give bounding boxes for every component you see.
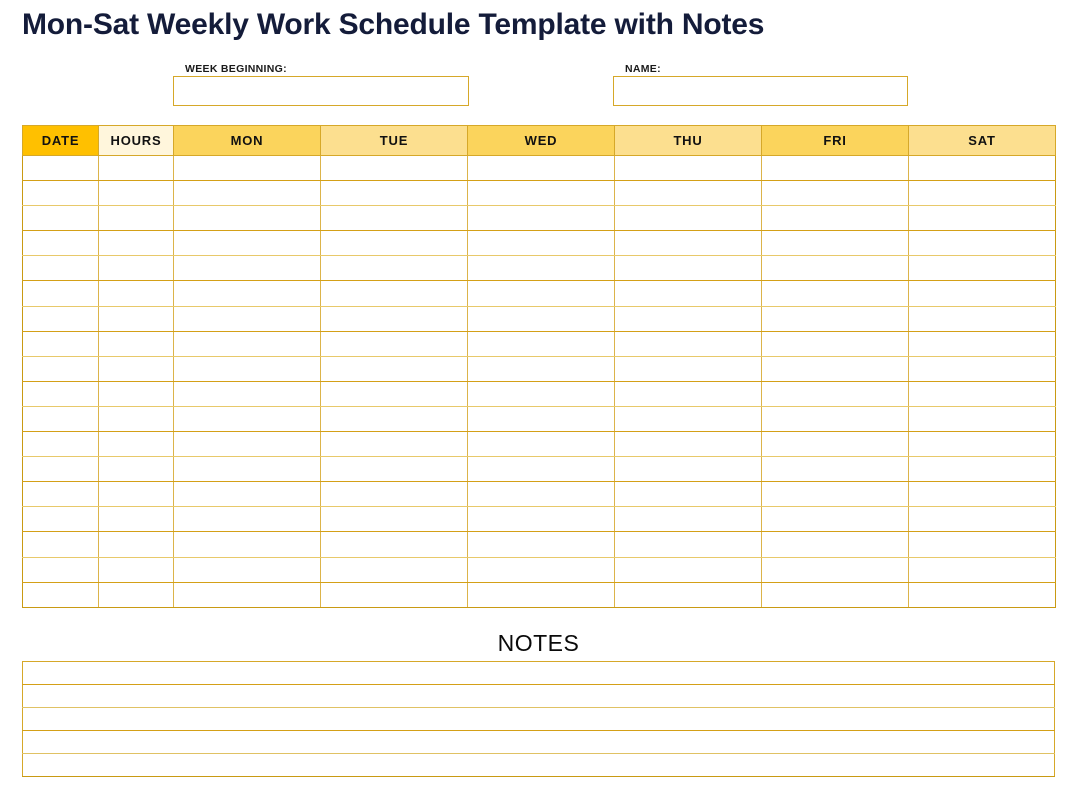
schedule-cell-date[interactable] (23, 156, 99, 181)
schedule-cell-mon[interactable] (174, 457, 321, 482)
schedule-cell-thu[interactable] (615, 432, 762, 457)
schedule-cell-mon[interactable] (174, 256, 321, 281)
schedule-row (23, 582, 1056, 607)
notes-line-input[interactable] (23, 708, 1055, 731)
schedule-cell-tue[interactable] (321, 356, 468, 381)
schedule-cell-wed[interactable] (468, 256, 615, 281)
schedule-cell-fri[interactable] (762, 381, 909, 406)
schedule-cell-thu[interactable] (615, 181, 762, 206)
schedule-cell-hours[interactable] (99, 482, 174, 507)
schedule-header-date[interactable]: DATE (23, 126, 99, 156)
schedule-cell-mon[interactable] (174, 507, 321, 532)
schedule-cell-hours[interactable] (99, 507, 174, 532)
notes-row (23, 708, 1055, 731)
schedule-cell-fri[interactable] (762, 406, 909, 431)
schedule-cell-sat[interactable] (909, 582, 1056, 607)
schedule-cell-wed[interactable] (468, 281, 615, 306)
schedule-cell-tue[interactable] (321, 306, 468, 331)
schedule-cell-hours[interactable] (99, 306, 174, 331)
schedule-cell-tue[interactable] (321, 156, 468, 181)
schedule-header-label: SAT (968, 133, 995, 148)
schedule-cell-hours[interactable] (99, 231, 174, 256)
name-field-group: NAME: (613, 62, 908, 106)
week-beginning-label: WEEK BEGINNING: (173, 62, 469, 76)
schedule-row (23, 206, 1056, 231)
schedule-cell-mon[interactable] (174, 582, 321, 607)
notes-line-input[interactable] (23, 754, 1055, 777)
schedule-row (23, 482, 1056, 507)
schedule-cell-mon[interactable] (174, 206, 321, 231)
schedule-header-mon[interactable]: MON (174, 126, 321, 156)
schedule-cell-fri[interactable] (762, 507, 909, 532)
schedule-cell-wed[interactable] (468, 381, 615, 406)
schedule-cell-date[interactable] (23, 457, 99, 482)
schedule-cell-tue[interactable] (321, 507, 468, 532)
schedule-cell-hours[interactable] (99, 532, 174, 557)
schedule-cell-tue[interactable] (321, 457, 468, 482)
schedule-cell-thu[interactable] (615, 582, 762, 607)
schedule-cell-thu[interactable] (615, 507, 762, 532)
schedule-row (23, 306, 1056, 331)
schedule-cell-date[interactable] (23, 306, 99, 331)
schedule-row (23, 356, 1056, 381)
schedule-cell-sat[interactable] (909, 557, 1056, 582)
schedule-cell-tue[interactable] (321, 231, 468, 256)
meta-fields-row: WEEK BEGINNING: NAME: (0, 62, 1077, 114)
schedule-cell-thu[interactable] (615, 231, 762, 256)
schedule-cell-mon[interactable] (174, 482, 321, 507)
schedule-header-label: WED (525, 133, 558, 148)
schedule-cell-date[interactable] (23, 356, 99, 381)
schedule-header-label: MON (231, 133, 264, 148)
schedule-cell-thu[interactable] (615, 331, 762, 356)
schedule-cell-mon[interactable] (174, 181, 321, 206)
schedule-cell-hours[interactable] (99, 457, 174, 482)
schedule-header-fri[interactable]: FRI (762, 126, 909, 156)
schedule-cell-fri[interactable] (762, 206, 909, 231)
schedule-cell-thu[interactable] (615, 381, 762, 406)
week-beginning-field-group: WEEK BEGINNING: (173, 62, 469, 106)
schedule-cell-fri[interactable] (762, 281, 909, 306)
notes-line-input[interactable] (23, 685, 1055, 708)
schedule-cell-thu[interactable] (615, 206, 762, 231)
schedule-cell-hours[interactable] (99, 557, 174, 582)
schedule-cell-date[interactable] (23, 432, 99, 457)
schedule-header-hours[interactable]: HOURS (99, 126, 174, 156)
schedule-cell-date[interactable] (23, 181, 99, 206)
schedule-cell-hours[interactable] (99, 331, 174, 356)
schedule-cell-mon[interactable] (174, 532, 321, 557)
schedule-header-label: DATE (42, 133, 80, 148)
schedule-cell-mon[interactable] (174, 281, 321, 306)
schedule-header-thu[interactable]: THU (615, 126, 762, 156)
schedule-cell-hours[interactable] (99, 206, 174, 231)
schedule-cell-fri[interactable] (762, 432, 909, 457)
notes-line-input[interactable] (23, 662, 1055, 685)
schedule-cell-hours[interactable] (99, 582, 174, 607)
schedule-cell-thu[interactable] (615, 256, 762, 281)
schedule-cell-sat[interactable] (909, 406, 1056, 431)
schedule-cell-hours[interactable] (99, 181, 174, 206)
schedule-cell-sat[interactable] (909, 231, 1056, 256)
schedule-cell-date[interactable] (23, 507, 99, 532)
schedule-cell-mon[interactable] (174, 557, 321, 582)
schedule-cell-fri[interactable] (762, 532, 909, 557)
schedule-cell-tue[interactable] (321, 432, 468, 457)
schedule-cell-thu[interactable] (615, 156, 762, 181)
schedule-cell-wed[interactable] (468, 406, 615, 431)
schedule-header-label: THU (673, 133, 702, 148)
schedule-cell-wed[interactable] (468, 457, 615, 482)
schedule-cell-date[interactable] (23, 482, 99, 507)
schedule-cell-fri[interactable] (762, 331, 909, 356)
schedule-row (23, 432, 1056, 457)
schedule-cell-fri[interactable] (762, 256, 909, 281)
schedule-cell-fri[interactable] (762, 156, 909, 181)
schedule-row (23, 406, 1056, 431)
schedule-header-sat[interactable]: SAT (909, 126, 1056, 156)
schedule-cell-sat[interactable] (909, 457, 1056, 482)
schedule-cell-date[interactable] (23, 231, 99, 256)
notes-table-container (22, 661, 1055, 777)
schedule-cell-date[interactable] (23, 582, 99, 607)
schedule-cell-mon[interactable] (174, 432, 321, 457)
schedule-header-wed[interactable]: WED (468, 126, 615, 156)
schedule-cell-mon[interactable] (174, 156, 321, 181)
schedule-cell-wed[interactable] (468, 156, 615, 181)
schedule-cell-tue[interactable] (321, 406, 468, 431)
schedule-cell-wed[interactable] (468, 482, 615, 507)
schedule-header-row: DATEHOURSMONTUEWEDTHUFRISAT (23, 126, 1056, 156)
schedule-cell-fri[interactable] (762, 457, 909, 482)
schedule-cell-mon[interactable] (174, 231, 321, 256)
schedule-cell-fri[interactable] (762, 356, 909, 381)
schedule-cell-mon[interactable] (174, 356, 321, 381)
schedule-cell-date[interactable] (23, 256, 99, 281)
schedule-cell-wed[interactable] (468, 557, 615, 582)
schedule-cell-hours[interactable] (99, 432, 174, 457)
schedule-cell-wed[interactable] (468, 231, 615, 256)
schedule-cell-mon[interactable] (174, 331, 321, 356)
schedule-cell-thu[interactable] (615, 281, 762, 306)
schedule-cell-thu[interactable] (615, 557, 762, 582)
schedule-cell-thu[interactable] (615, 306, 762, 331)
schedule-cell-sat[interactable] (909, 356, 1056, 381)
notes-line-input[interactable] (23, 731, 1055, 754)
schedule-cell-date[interactable] (23, 532, 99, 557)
notes-heading: NOTES (22, 630, 1055, 657)
schedule-cell-fri[interactable] (762, 181, 909, 206)
schedule-cell-thu[interactable] (615, 532, 762, 557)
schedule-row (23, 557, 1056, 582)
schedule-cell-date[interactable] (23, 281, 99, 306)
schedule-cell-hours[interactable] (99, 356, 174, 381)
schedule-cell-sat[interactable] (909, 331, 1056, 356)
schedule-cell-tue[interactable] (321, 482, 468, 507)
schedule-cell-thu[interactable] (615, 406, 762, 431)
schedule-cell-mon[interactable] (174, 406, 321, 431)
schedule-cell-date[interactable] (23, 381, 99, 406)
schedule-cell-tue[interactable] (321, 281, 468, 306)
schedule-row (23, 532, 1056, 557)
page-title: Mon-Sat Weekly Work Schedule Template wi… (22, 8, 764, 42)
schedule-row (23, 231, 1056, 256)
schedule-cell-hours[interactable] (99, 381, 174, 406)
schedule-cell-hours[interactable] (99, 406, 174, 431)
schedule-header-label: TUE (380, 133, 408, 148)
schedule-cell-wed[interactable] (468, 206, 615, 231)
schedule-cell-tue[interactable] (321, 582, 468, 607)
schedule-cell-wed[interactable] (468, 331, 615, 356)
schedule-cell-wed[interactable] (468, 532, 615, 557)
schedule-cell-date[interactable] (23, 206, 99, 231)
schedule-cell-tue[interactable] (321, 557, 468, 582)
schedule-cell-fri[interactable] (762, 231, 909, 256)
schedule-cell-fri[interactable] (762, 582, 909, 607)
schedule-row (23, 331, 1056, 356)
notes-table (22, 661, 1055, 777)
schedule-cell-sat[interactable] (909, 256, 1056, 281)
schedule-cell-date[interactable] (23, 557, 99, 582)
notes-row (23, 731, 1055, 754)
name-label: NAME: (613, 62, 908, 76)
schedule-cell-thu[interactable] (615, 457, 762, 482)
schedule-row (23, 381, 1056, 406)
schedule-cell-sat[interactable] (909, 156, 1056, 181)
schedule-cell-fri[interactable] (762, 306, 909, 331)
schedule-cell-sat[interactable] (909, 181, 1056, 206)
schedule-cell-mon[interactable] (174, 306, 321, 331)
schedule-cell-thu[interactable] (615, 356, 762, 381)
schedule-cell-sat[interactable] (909, 281, 1056, 306)
name-input[interactable] (613, 76, 908, 106)
schedule-cell-sat[interactable] (909, 306, 1056, 331)
schedule-cell-hours[interactable] (99, 156, 174, 181)
schedule-cell-tue[interactable] (321, 331, 468, 356)
notes-row (23, 685, 1055, 708)
schedule-cell-date[interactable] (23, 331, 99, 356)
schedule-cell-wed[interactable] (468, 582, 615, 607)
schedule-cell-wed[interactable] (468, 306, 615, 331)
schedule-cell-wed[interactable] (468, 507, 615, 532)
notes-row (23, 754, 1055, 777)
schedule-cell-thu[interactable] (615, 482, 762, 507)
schedule-cell-fri[interactable] (762, 482, 909, 507)
schedule-cell-tue[interactable] (321, 181, 468, 206)
schedule-cell-tue[interactable] (321, 256, 468, 281)
schedule-row (23, 281, 1056, 306)
schedule-cell-sat[interactable] (909, 381, 1056, 406)
schedule-cell-fri[interactable] (762, 557, 909, 582)
schedule-cell-tue[interactable] (321, 532, 468, 557)
schedule-cell-sat[interactable] (909, 532, 1056, 557)
schedule-cell-sat[interactable] (909, 432, 1056, 457)
schedule-header-label: HOURS (111, 133, 162, 148)
schedule-cell-tue[interactable] (321, 206, 468, 231)
schedule-cell-sat[interactable] (909, 507, 1056, 532)
schedule-row (23, 457, 1056, 482)
schedule-cell-hours[interactable] (99, 281, 174, 306)
schedule-cell-wed[interactable] (468, 356, 615, 381)
notes-row (23, 662, 1055, 685)
schedule-row (23, 507, 1056, 532)
week-beginning-input[interactable] (173, 76, 469, 106)
schedule-cell-wed[interactable] (468, 181, 615, 206)
schedule-cell-wed[interactable] (468, 432, 615, 457)
schedule-table: DATEHOURSMONTUEWEDTHUFRISAT (22, 125, 1056, 608)
schedule-cell-mon[interactable] (174, 381, 321, 406)
schedule-header-tue[interactable]: TUE (321, 126, 468, 156)
schedule-cell-sat[interactable] (909, 482, 1056, 507)
schedule-table-container: DATEHOURSMONTUEWEDTHUFRISAT (22, 125, 1055, 608)
schedule-row (23, 256, 1056, 281)
schedule-header-label: FRI (823, 133, 846, 148)
schedule-row (23, 156, 1056, 181)
schedule-cell-sat[interactable] (909, 206, 1056, 231)
schedule-cell-date[interactable] (23, 406, 99, 431)
schedule-cell-hours[interactable] (99, 256, 174, 281)
schedule-cell-tue[interactable] (321, 381, 468, 406)
schedule-row (23, 181, 1056, 206)
